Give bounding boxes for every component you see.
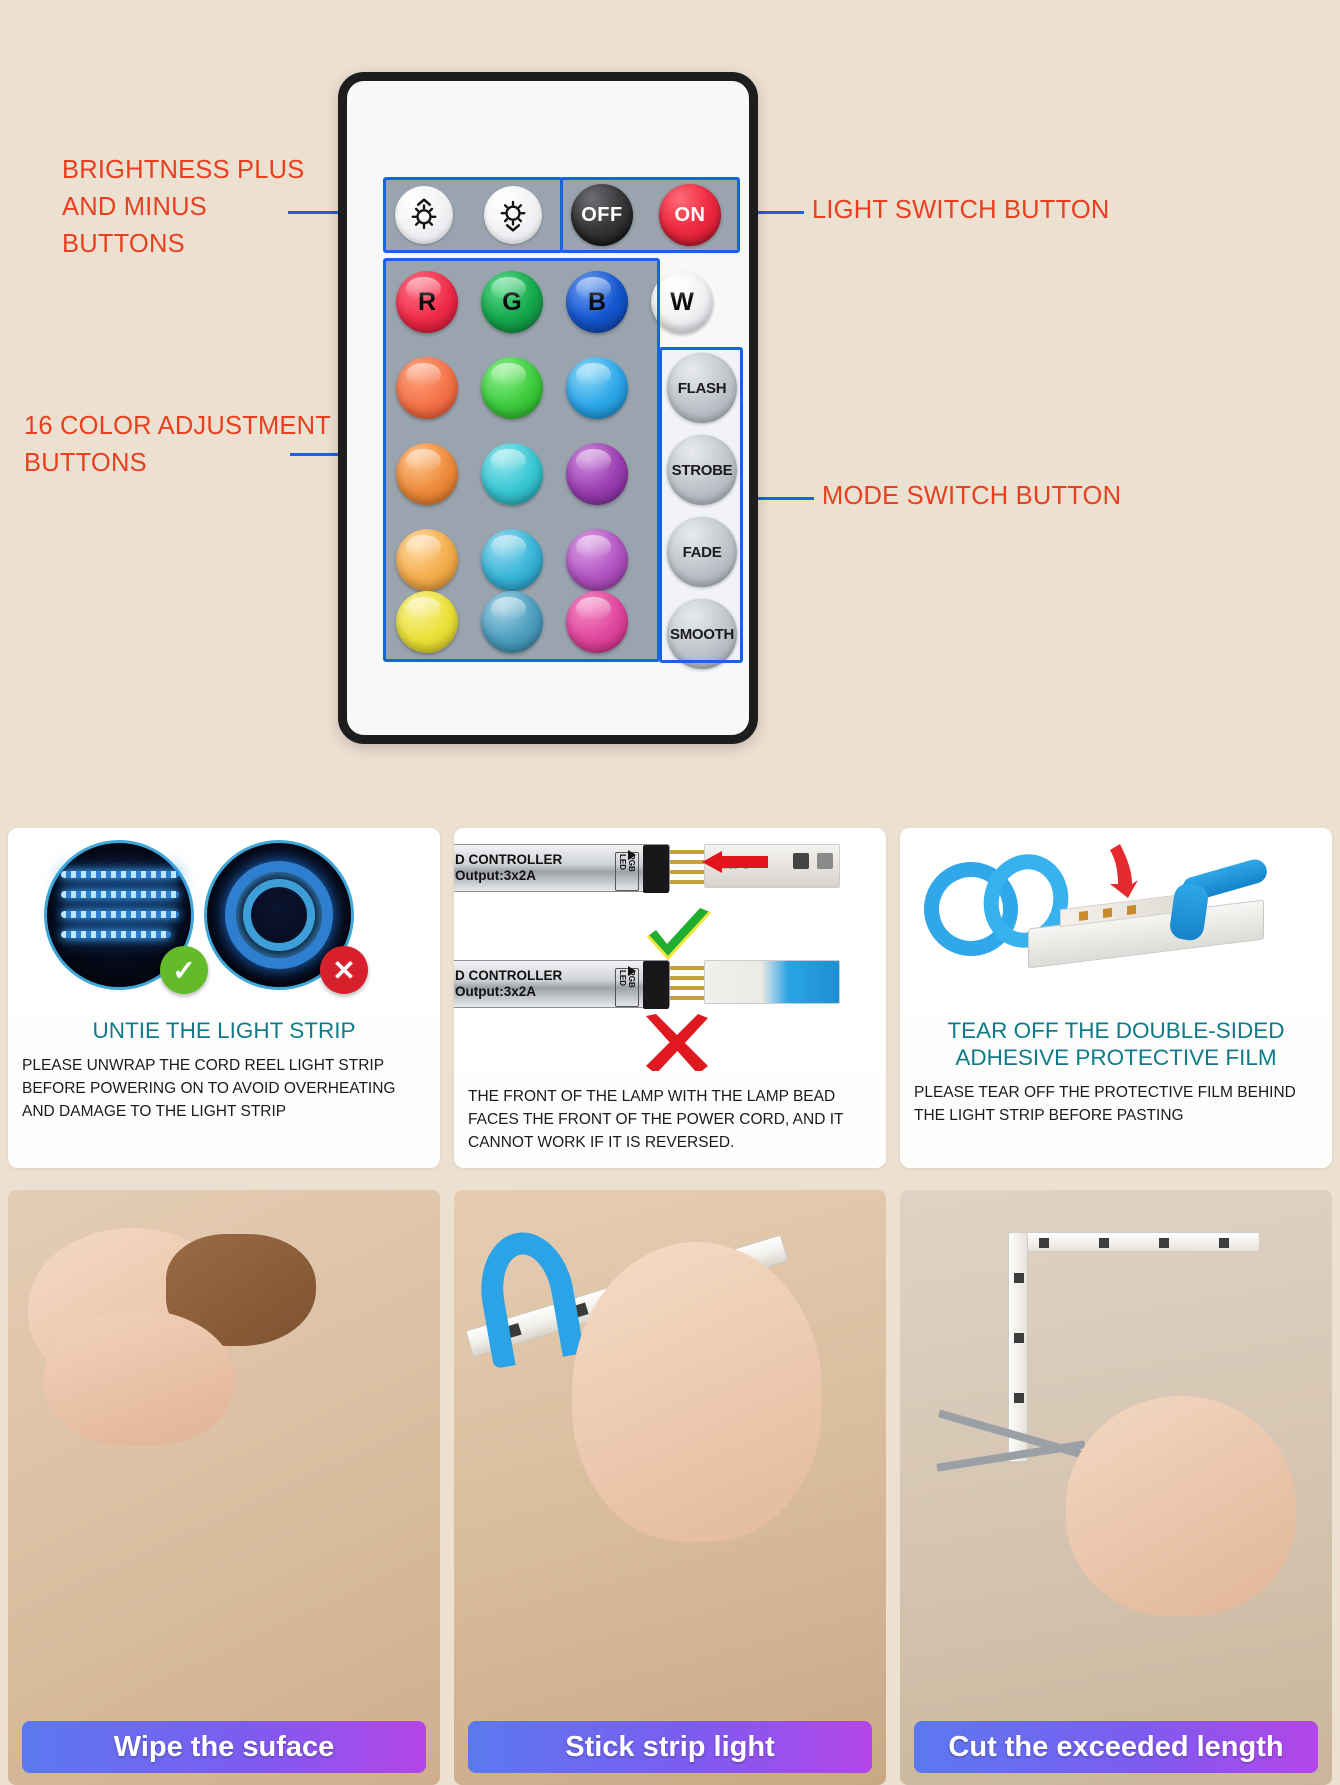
card3-image <box>900 828 1332 1013</box>
steps-photo-row: Wipe the suface Stick strip light <box>0 1190 1340 1785</box>
red-cross-icon <box>640 1014 714 1071</box>
arrow-marker-icon <box>628 850 636 860</box>
hand-photo-3 <box>1066 1396 1296 1616</box>
hand-photo-2 <box>572 1242 822 1542</box>
highlight-mode-column <box>659 347 743 663</box>
card-untie-light-strip: ✓ ✕ UNTIE THE LIGHT STRIP PLEASE UNWRAP … <box>8 828 440 1168</box>
highlight-brightness <box>383 177 563 253</box>
annotation-brightness: BRIGHTNESS PLUS AND MINUS BUTTONS <box>62 152 342 263</box>
instruction-cards-row: ✓ ✕ UNTIE THE LIGHT STRIP PLEASE UNWRAP … <box>0 828 1340 1168</box>
red-arrow-left-icon <box>700 850 770 874</box>
card-tear-off-film: TEAR OFF THE DOUBLE-SIDED ADHESIVE PROTE… <box>900 828 1332 1168</box>
light-strip-photo3-horizontal <box>1008 1232 1260 1252</box>
red-arrow-up-icon <box>1102 844 1138 900</box>
controller-bottom-label: D CONTROLLER Output:3x2A <box>454 968 562 1000</box>
card2-image: D CONTROLLER Output:3x2A RGB LED LIPT <box>454 828 886 1071</box>
highlight-power <box>560 177 740 253</box>
hand-photo-1b <box>44 1310 234 1446</box>
photo-stick-strip-light: Stick strip light <box>454 1190 886 1785</box>
card2-heading <box>454 1071 886 1081</box>
photo-cut-exceeded-length: Cut the exceeded length <box>900 1190 1332 1785</box>
controller-pins-bottom <box>670 962 704 1002</box>
arrow-marker-icon-2 <box>628 966 636 976</box>
controller-top: D CONTROLLER Output:3x2A RGB LED <box>454 844 670 892</box>
highlight-color-grid <box>383 258 660 662</box>
photo-wipe-surface: Wipe the suface <box>8 1190 440 1785</box>
annotation-light-switch: LIGHT SWITCH BUTTON <box>812 192 1232 229</box>
photo1-caption: Wipe the suface <box>22 1721 426 1773</box>
card1-heading: UNTIE THE LIGHT STRIP <box>8 1013 440 1050</box>
card3-heading: TEAR OFF THE DOUBLE-SIDED ADHESIVE PROTE… <box>900 1013 1332 1077</box>
card2-body: THE FRONT OF THE LAMP WITH THE LAMP BEAD… <box>454 1081 886 1168</box>
cross-icon: ✕ <box>320 946 368 994</box>
light-strip-photo3-vertical <box>1008 1232 1028 1462</box>
card-lamp-orientation: D CONTROLLER Output:3x2A RGB LED LIPT <box>454 828 886 1168</box>
annotation-color-buttons: 16 COLOR ADJUSTMENT BUTTONS <box>24 408 354 482</box>
strip-bottom <box>704 960 840 1004</box>
check-icon: ✓ <box>160 946 208 994</box>
card1-image: ✓ ✕ <box>8 828 440 1013</box>
controller-pins-top <box>670 846 704 886</box>
color-button-w[interactable]: W <box>651 271 713 333</box>
remote-control: OFF ON R G B W <box>338 72 758 744</box>
card3-body: PLEASE TEAR OFF THE PROTECTIVE FILM BEHI… <box>900 1077 1332 1141</box>
card1-body: PLEASE UNWRAP THE CORD REEL LIGHT STRIP … <box>8 1050 440 1137</box>
controller-top-label: D CONTROLLER Output:3x2A <box>454 852 562 884</box>
remote-diagram-section: BRIGHTNESS PLUS AND MINUS BUTTONS 16 COL… <box>0 0 1340 830</box>
photo2-caption: Stick strip light <box>468 1721 872 1773</box>
annotation-mode-switch: MODE SWITCH BUTTON <box>822 478 1242 515</box>
photo3-caption: Cut the exceeded length <box>914 1721 1318 1773</box>
infographic-page: BRIGHTNESS PLUS AND MINUS BUTTONS 16 COL… <box>0 0 1340 1785</box>
controller-bottom: D CONTROLLER Output:3x2A RGB LED <box>454 960 670 1008</box>
